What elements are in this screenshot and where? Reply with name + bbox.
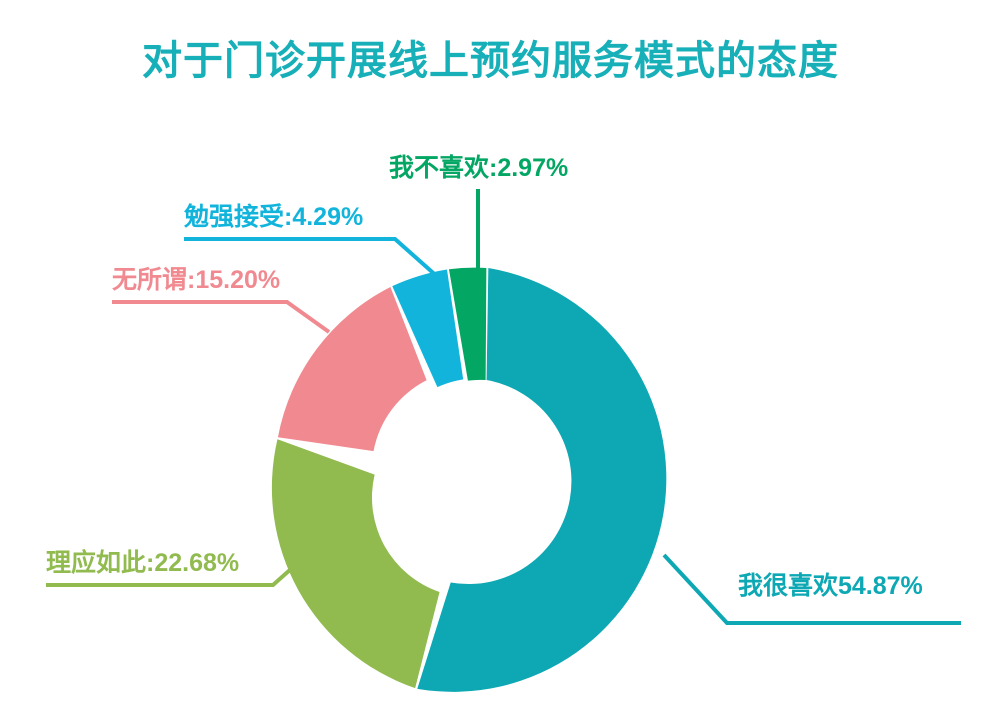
slice-label-should: 理应如此:22.68%	[46, 551, 239, 576]
donut-slices	[272, 268, 666, 692]
donut-chart-graphic	[0, 0, 981, 706]
slice-label-dislike: 我不喜欢:2.97%	[389, 156, 568, 181]
slice-label-reluctant: 勉强接受:4.29%	[184, 205, 363, 230]
slice-should[interactable]	[272, 439, 440, 688]
slice-label-neutral: 无所谓:15.20%	[112, 268, 280, 293]
slice-label-love: 我很喜欢54.87%	[738, 574, 923, 599]
donut-chart-figure: 对于门诊开展线上预约服务模式的态度	[0, 0, 981, 706]
leader-line-neutral	[112, 302, 329, 332]
